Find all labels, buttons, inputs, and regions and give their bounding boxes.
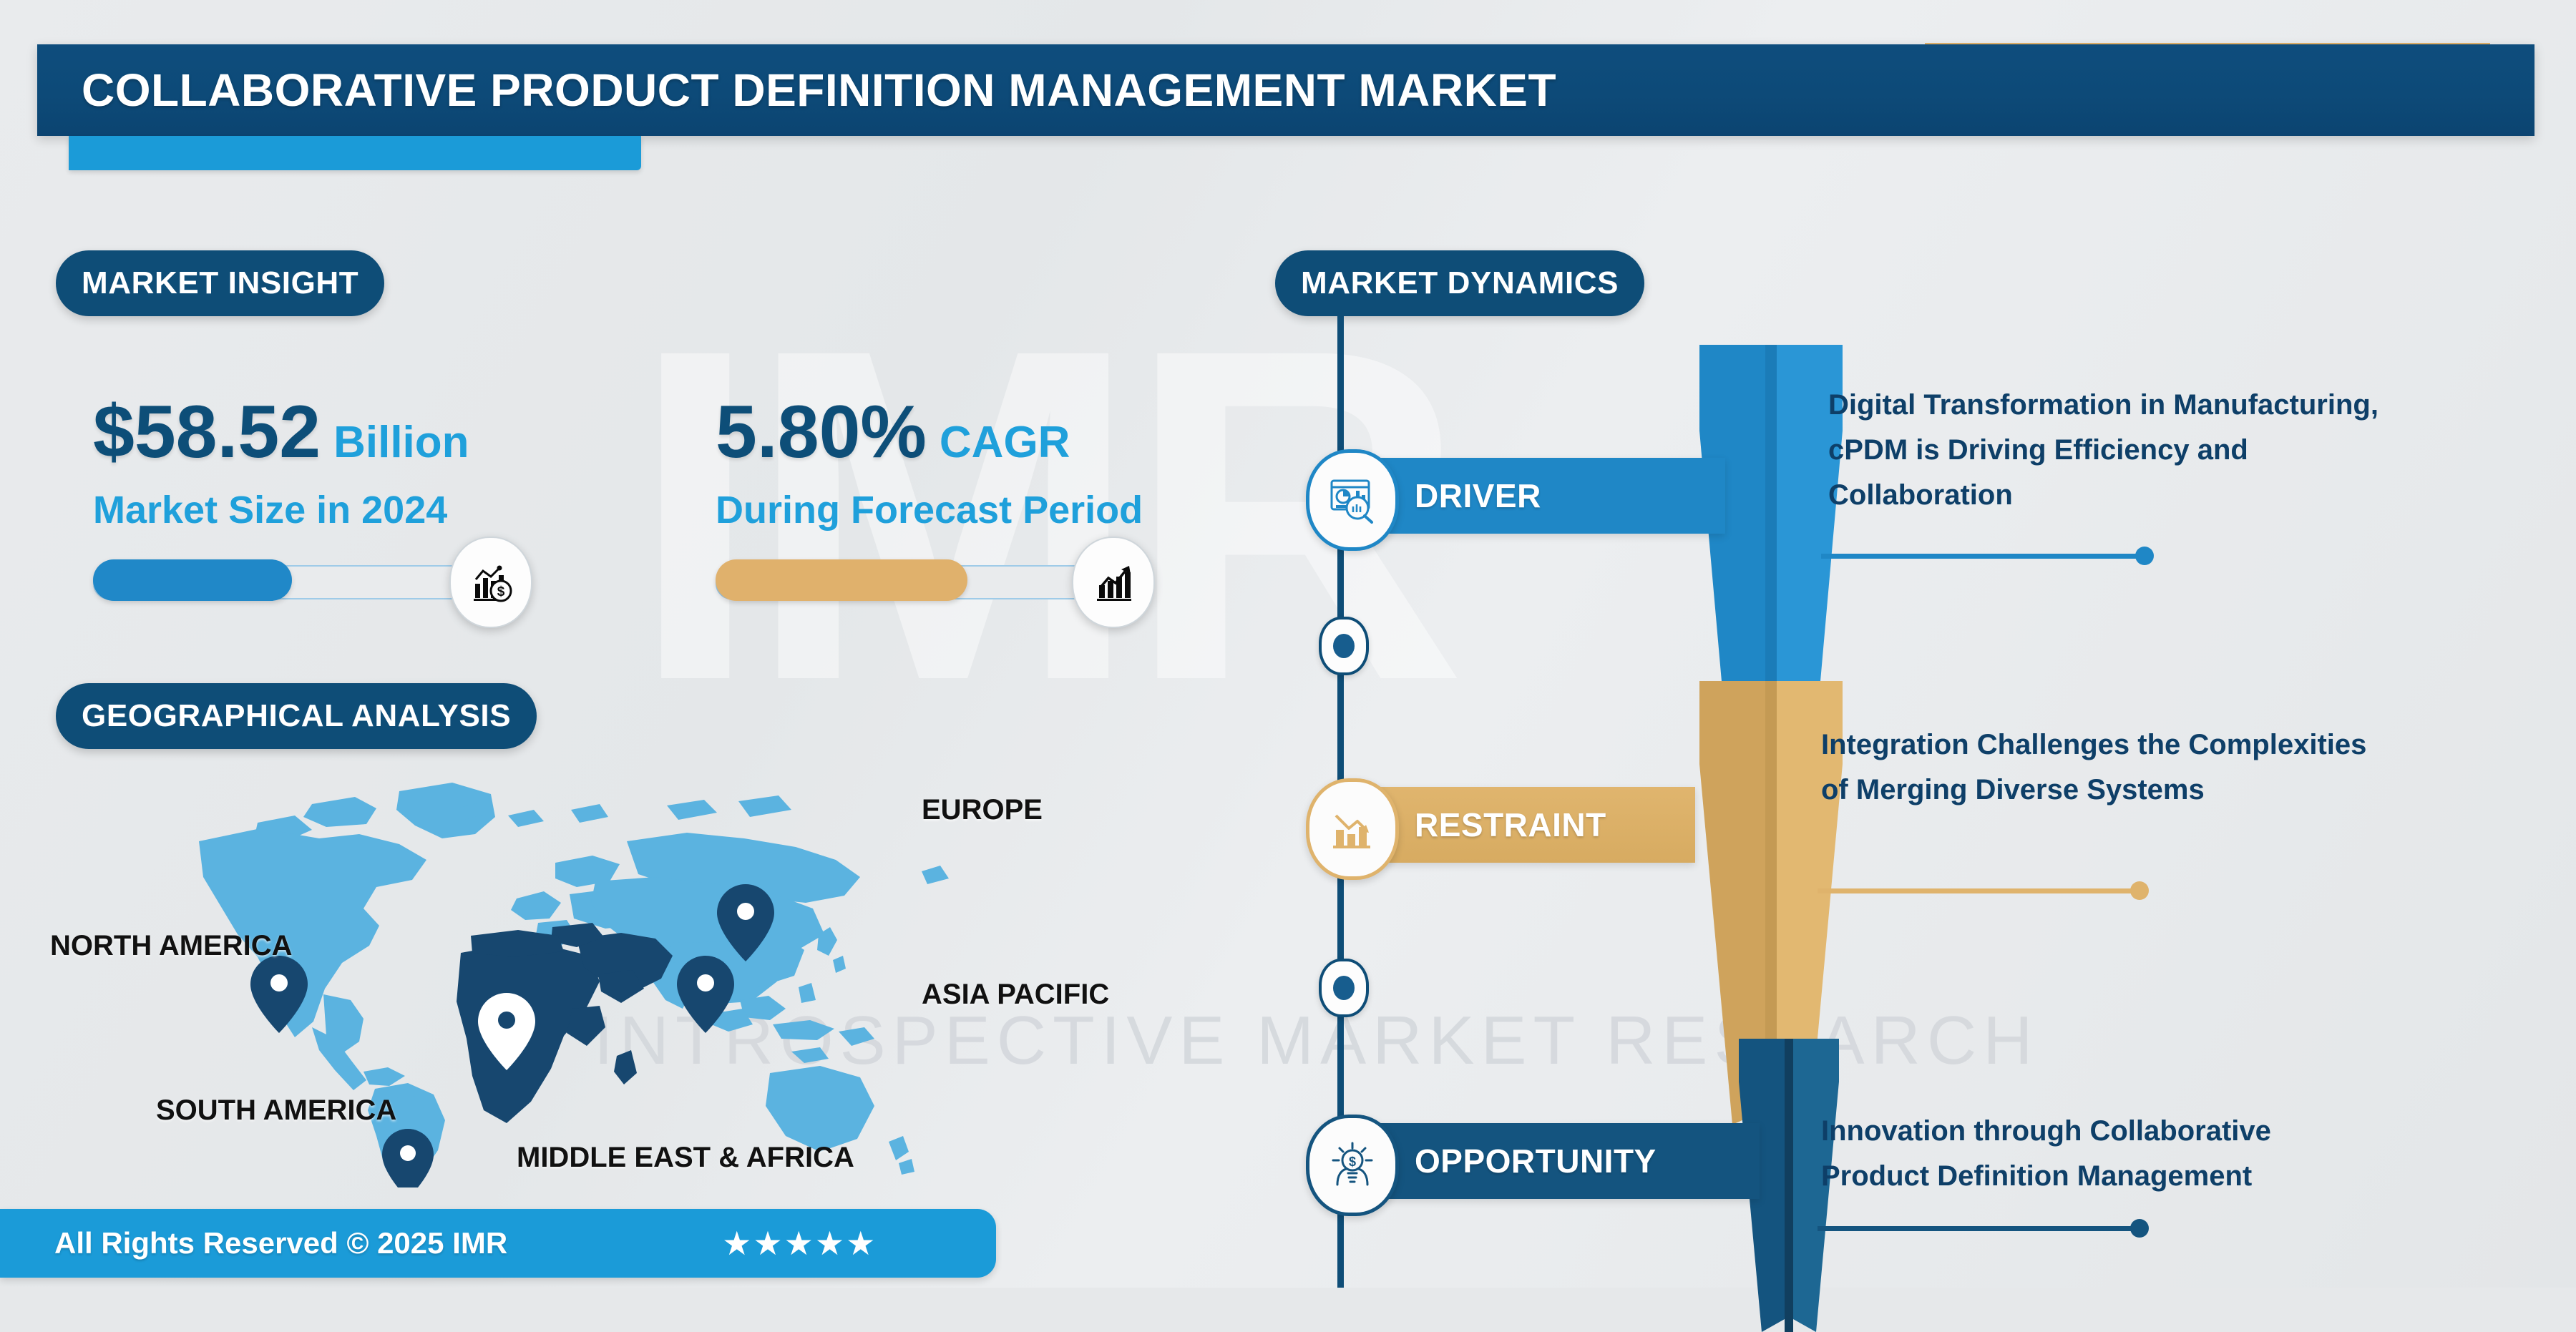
stat-cagr-value: 5.80% [716, 395, 927, 469]
restraint-label: RESTRAINT [1415, 805, 1606, 844]
dashboard-analytics-search-icon [1306, 449, 1399, 551]
map-pin-south-america [382, 1129, 434, 1187]
page-title: COLLABORATIVE PRODUCT DEFINITION MANAGEM… [82, 64, 1556, 117]
footer-bar: All Rights Reserved © 2025 IMR ★★★★★ [0, 1209, 996, 1278]
stat-cagr: 5.80% CAGR During Forecast Period [716, 395, 1143, 532]
region-label-europe: EUROPE [922, 794, 1043, 826]
restraint-underline [1818, 888, 2140, 893]
stat-market-size-unit: Billion [333, 421, 469, 465]
progress-fill [716, 559, 967, 601]
svg-text:$: $ [497, 584, 505, 599]
driver-underline [1821, 554, 2145, 559]
restraint-description: Integration Challenges the Complexities … [1821, 723, 2386, 813]
stat-market-size-caption: Market Size in 2024 [93, 488, 469, 532]
region-label-asia-pacific: ASIA PACIFIC [922, 979, 1109, 1011]
geographical-analysis-heading: GEOGRAPHICAL ANALYSIS [56, 683, 537, 749]
declining-bar-chart-icon [1306, 778, 1399, 880]
driver-label: DRIVER [1415, 476, 1541, 515]
stat-cagr-unit: CAGR [940, 421, 1070, 465]
market-dynamics-heading: MARKET DYNAMICS [1275, 250, 1644, 316]
rating-stars: ★★★★★ [722, 1224, 877, 1263]
timeline-node-2 [1319, 959, 1369, 1017]
driver-description: Digital Transformation in Manufacturing,… [1828, 383, 2394, 519]
region-label-south-america: SOUTH AMERICA [156, 1095, 396, 1127]
restraint-end-dot [2130, 881, 2149, 900]
opportunity-underline [1818, 1226, 2140, 1231]
restraint-band: RESTRAINT [1337, 787, 1695, 863]
region-label-north-america: NORTH AMERICA [50, 930, 293, 962]
svg-text:$: $ [1349, 1155, 1356, 1169]
opportunity-label: OPPORTUNITY [1415, 1142, 1657, 1180]
driver-band: DRIVER [1337, 458, 1725, 534]
copyright-text: All Rights Reserved © 2025 IMR [54, 1226, 507, 1260]
opportunity-end-dot [2130, 1219, 2149, 1238]
timeline-node-1 [1319, 617, 1369, 675]
opportunity-band: $ OPPORTUNITY [1337, 1123, 1760, 1199]
opportunity-description: Innovation through Collaborative Product… [1821, 1109, 2386, 1199]
stat-market-size-value: $58.52 [93, 395, 321, 469]
lightbulb-dollar-icon: $ [1306, 1115, 1399, 1216]
driver-end-dot [2135, 547, 2154, 565]
header-blue-accent [69, 136, 641, 170]
stat-market-size: $58.52 Billion Market Size in 2024 [93, 395, 469, 532]
region-label-middle-east-africa: MIDDLE EAST & AFRICA [517, 1142, 854, 1174]
header-bar: COLLABORATIVE PRODUCT DEFINITION MANAGEM… [37, 44, 2534, 136]
market-insight-heading: MARKET INSIGHT [56, 250, 384, 316]
bar-chart-dollar-icon: $ [449, 537, 532, 628]
progress-fill [93, 559, 292, 601]
stat-cagr-caption: During Forecast Period [716, 488, 1143, 532]
infographic-canvas: IMR INTROSPECTIVE MARKET RESEARCH COLLAB… [0, 0, 2576, 1288]
growth-arrow-chart-icon [1072, 537, 1155, 628]
